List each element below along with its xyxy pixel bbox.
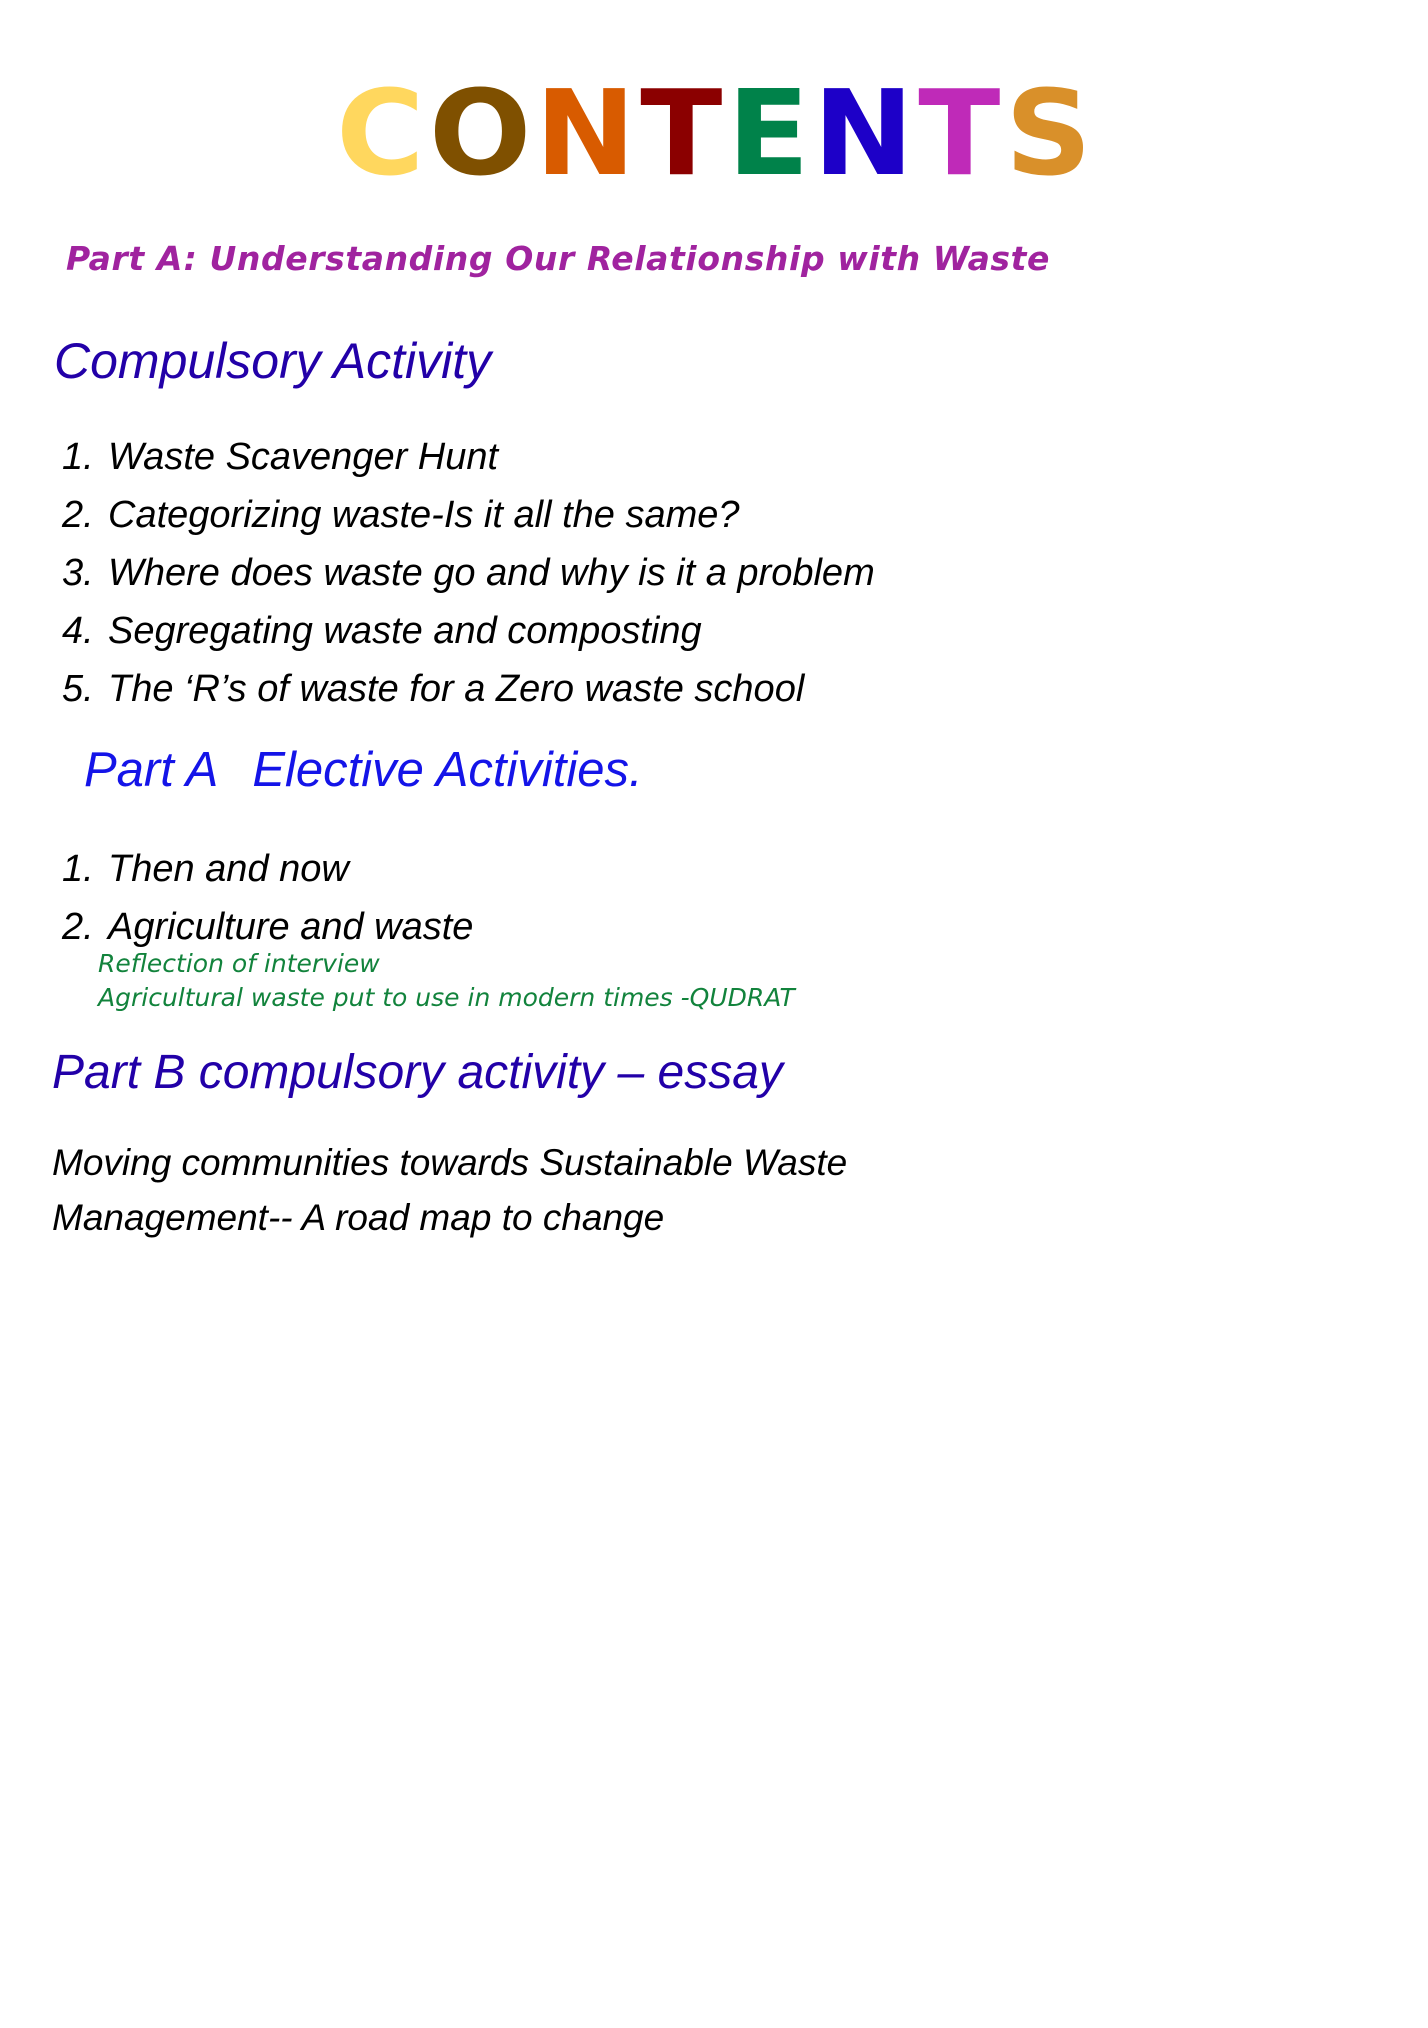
- essay-description: Moving communities towards Sustainable W…: [52, 1135, 952, 1245]
- list-item-number: 1.: [62, 428, 108, 486]
- list-item-label: The ‘R’s of waste for a Zero waste schoo…: [108, 660, 804, 718]
- title-letter-s: S: [1005, 74, 1092, 192]
- part-a-subtitle: Part A: Understanding Our Relationship w…: [66, 239, 1366, 278]
- note-line-reflection: Reflection of interview: [98, 947, 795, 981]
- heading-part-a-label: Part A: [84, 743, 218, 797]
- list-item: 5. The ‘R’s of waste for a Zero waste sc…: [62, 660, 1162, 718]
- heading-part-a-elective: Part AElective Activities.: [84, 744, 643, 798]
- title-letter-o: O: [429, 74, 531, 192]
- list-item-number: 5.: [62, 660, 108, 718]
- essay-line-2: Management-- A road map to change: [52, 1190, 952, 1245]
- essay-line-1: Moving communities towards Sustainable W…: [52, 1135, 952, 1190]
- handwritten-notes: Reflection of interview Agricultural was…: [98, 947, 795, 1015]
- list-item: 1. Waste Scavenger Hunt: [62, 428, 1162, 486]
- list-item-label: Where does waste go and why is it a prob…: [108, 544, 875, 602]
- list-item-number: 2.: [62, 486, 108, 544]
- note-line-agricultural: Agricultural waste put to use in modern …: [98, 981, 795, 1015]
- heading-elective-label: Elective Activities.: [252, 743, 642, 797]
- list-item-label: Waste Scavenger Hunt: [108, 428, 498, 486]
- list-item: 3. Where does waste go and why is it a p…: [62, 544, 1162, 602]
- list-item-number: 3.: [62, 544, 108, 602]
- list-item: 4. Segregating waste and composting: [62, 602, 1162, 660]
- list-item-label: Segregating waste and composting: [108, 602, 702, 660]
- page-title: CONTENTS: [0, 74, 1428, 192]
- title-letter-c: C: [337, 74, 425, 192]
- title-letter-n1: N: [535, 74, 636, 192]
- elective-activity-list: 1. Then and now 2. Agriculture and waste: [62, 840, 1162, 956]
- heading-compulsory-activity: Compulsory Activity: [54, 334, 491, 389]
- compulsory-activity-list: 1. Waste Scavenger Hunt 2. Categorizing …: [62, 428, 1162, 718]
- list-item-label: Then and now: [108, 840, 349, 898]
- title-letter-n2: N: [813, 74, 914, 192]
- list-item-number: 4.: [62, 602, 108, 660]
- list-item: 2. Categorizing waste-Is it all the same…: [62, 486, 1162, 544]
- title-letter-t1: T: [640, 74, 722, 192]
- title-letter-t2: T: [918, 74, 1000, 192]
- title-letter-e: E: [727, 74, 809, 192]
- list-item-label: Categorizing waste-Is it all the same?: [108, 486, 740, 544]
- list-item-number: 1.: [62, 840, 108, 898]
- list-item: 1. Then and now: [62, 840, 1162, 898]
- heading-part-b-essay: Part B compulsory activity – essay: [52, 1047, 783, 1100]
